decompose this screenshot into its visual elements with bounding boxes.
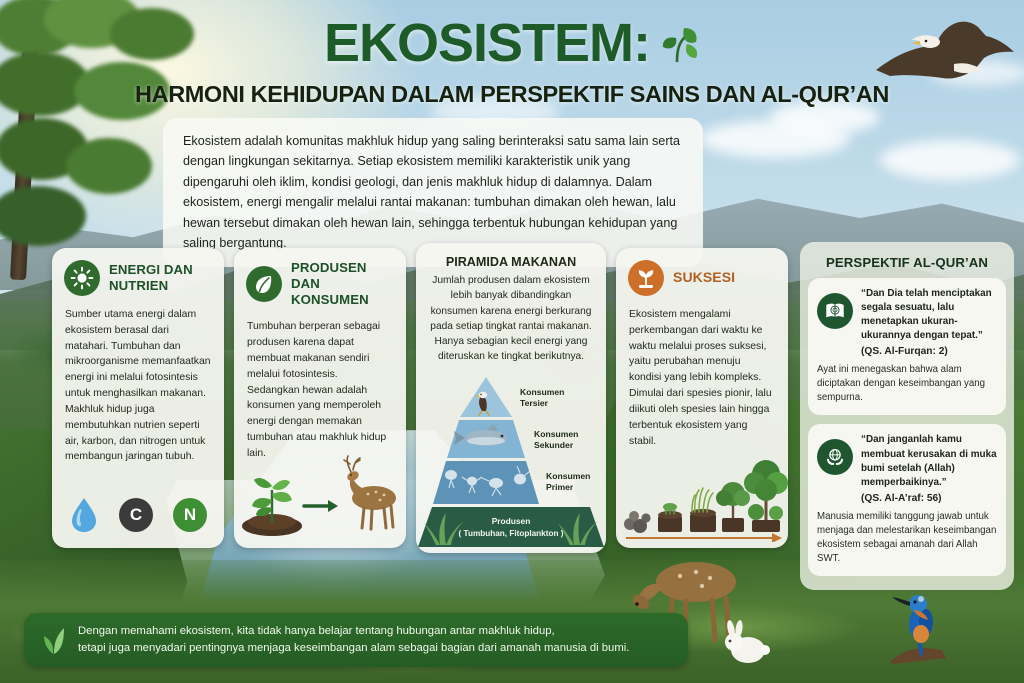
- card-header: PRODUSEN DAN KONSUMEN: [234, 248, 406, 312]
- pyramid-label-sekunder-line2: Sekunder: [534, 440, 578, 451]
- footer-line-2: tetapi juga menyadari pentingnya menjaga…: [78, 640, 629, 657]
- kingfisher-beak: [892, 597, 910, 606]
- tree-foliage: [0, 186, 86, 246]
- card-title: PRODUSEN DAN KONSUMEN: [291, 260, 394, 308]
- verse-card-al-araf[interactable]: “Dan janganlah kamu membuat kerusakan di…: [808, 424, 1006, 576]
- pyramid-label-tersier-line1: Konsumen: [520, 387, 564, 398]
- card-body-text: Ekosistem mengalami perkembangan dari wa…: [616, 300, 788, 457]
- card-suksesi[interactable]: SUKSESI Ekosistem mengalami perkembangan…: [616, 248, 788, 548]
- tree-foliage: [66, 138, 152, 194]
- pyramid-label-tersier-line2: Tersier: [520, 398, 564, 409]
- deer-image: [344, 456, 396, 529]
- card-header: ENERGI DAN NUTRIEN: [52, 248, 224, 300]
- tree-branch: [890, 648, 946, 664]
- arrow-right-icon: [304, 500, 338, 512]
- carbon-badge: C: [119, 498, 153, 532]
- pyramid-description: Jumlah produsen dalam ekosistem lebih ba…: [416, 273, 606, 371]
- card-title: SUKSESI: [673, 269, 735, 286]
- verse-top-row: “Dan janganlah kamu membuat kerusakan di…: [817, 433, 997, 503]
- verse-quote: “Dan janganlah kamu membuat kerusakan di…: [861, 433, 997, 489]
- kingfisher-bird-image: [880, 578, 950, 664]
- verse-card-al-furqan[interactable]: “Dan Dia telah menciptakan segala sesuat…: [808, 278, 1006, 415]
- infographic-canvas: EKOSISTEM: HARMONI KEHIDUPAN DALAM PERSP…: [0, 0, 1024, 683]
- carbon-badge-label: C: [130, 505, 142, 525]
- quran-panel-title: PERSPEKTIF AL-QUR’AN: [808, 251, 1006, 278]
- pyramid-label-produsen-line2: ( Tumbuhan, Fitoplankton ): [459, 529, 564, 538]
- card-title: ENERGI DAN NUTRIEN: [109, 262, 212, 294]
- food-pyramid-chart: Produsen ( Tumbuhan, Fitoplankton ) Kons…: [416, 371, 606, 553]
- intro-text: Ekosistem adalah komunitas makhluk hidup…: [183, 131, 683, 253]
- card-header: SUKSESI: [616, 248, 788, 300]
- verse-text-block: “Dan Dia telah menciptakan segala sesuat…: [861, 287, 997, 357]
- seedling-leaf: [272, 480, 290, 490]
- pyramid-label-primer: Konsumen Primer: [546, 471, 590, 493]
- pyramid-label-primer-line1: Konsumen: [546, 471, 590, 482]
- bare-rocks-stage: [624, 511, 651, 533]
- leaf-icon: [246, 266, 282, 302]
- water-drop-icon: [69, 496, 99, 534]
- deer-antlers: [344, 456, 360, 472]
- verse-reference: (QS. Al-Furqan: 2): [861, 346, 997, 357]
- footer-text: Dengan memahami ekosistem, kita tidak ha…: [78, 623, 629, 657]
- page-subtitle: HARMONI KEHIDUPAN DALAM PERSPEKTIF SAINS…: [0, 81, 1024, 108]
- pyramid-title: PIRAMIDA MAKANAN: [416, 243, 606, 273]
- card-energi-dan-nutrien[interactable]: ENERGI DAN NUTRIEN Sumber utama energi d…: [52, 248, 224, 548]
- seedling-leaf: [252, 498, 272, 508]
- succession-illustration: [616, 450, 788, 542]
- panel-perspektif-al-quran: PERSPEKTIF AL-QUR’AN “Dan Dia telah menc…: [800, 242, 1014, 590]
- grass-stage: [690, 488, 716, 532]
- verse-quote: “Dan Dia telah menciptakan segala sesuat…: [861, 287, 997, 343]
- verse-explanation: Manusia memiliki tanggung jawab untuk me…: [817, 510, 997, 566]
- sprout-in-soil-icon: [628, 260, 664, 296]
- leaf-sprout-icon: [654, 20, 700, 66]
- footer-banner: Dengan memahami ekosistem, kita tidak ha…: [24, 613, 688, 667]
- footer-line-1: Dengan memahami ekosistem, kita tidak ha…: [78, 623, 629, 640]
- nutrient-badges: C N: [52, 496, 224, 534]
- card-body-text: Sumber utama energi dalam ekosistem bera…: [52, 300, 224, 473]
- verse-top-row: “Dan Dia telah menciptakan segala sesuat…: [817, 287, 997, 357]
- white-rabbit-image: [718, 616, 774, 668]
- moss-stage: [658, 503, 682, 532]
- card-piramida-makanan[interactable]: PIRAMIDA MAKANAN Jumlah produsen dalam e…: [416, 243, 606, 553]
- nitrogen-badge: N: [173, 498, 207, 532]
- page-title: EKOSISTEM:: [324, 16, 700, 70]
- card-produsen-dan-konsumen[interactable]: PRODUSEN DAN KONSUMEN Tumbuhan berperan …: [234, 248, 406, 548]
- seedling-leaf: [254, 478, 272, 488]
- pyramid-label-sekunder: Konsumen Sekunder: [534, 429, 578, 451]
- nitrogen-badge-label: N: [184, 505, 196, 525]
- tree-stage: [744, 460, 788, 532]
- producer-consumer-illustration: [234, 430, 406, 540]
- leaf-icon: [40, 624, 68, 656]
- quran-book-icon: [817, 293, 853, 329]
- pyramid-label-primer-line2: Primer: [546, 482, 590, 493]
- verse-explanation: Ayat ini menegaskan bahwa alam diciptaka…: [817, 363, 997, 405]
- verse-reference: (QS. Al-A’raf: 56): [861, 493, 997, 504]
- page-header: EKOSISTEM: HARMONI KEHIDUPAN DALAM PERSP…: [0, 16, 1024, 108]
- earth-in-hands-icon: [817, 439, 853, 475]
- verse-text-block: “Dan janganlah kamu membuat kerusakan di…: [861, 433, 997, 503]
- page-title-text: EKOSISTEM:: [324, 16, 650, 70]
- cloud-shape: [880, 140, 1020, 180]
- sun-icon: [64, 260, 100, 296]
- pyramid-label-produsen-line1: Produsen: [492, 516, 531, 526]
- shrub-stage: [716, 482, 750, 532]
- pyramid-label-tersier: Konsumen Tersier: [520, 387, 564, 409]
- seedling-leaf: [272, 492, 292, 502]
- pyramid-label-sekunder-line1: Konsumen: [534, 429, 578, 440]
